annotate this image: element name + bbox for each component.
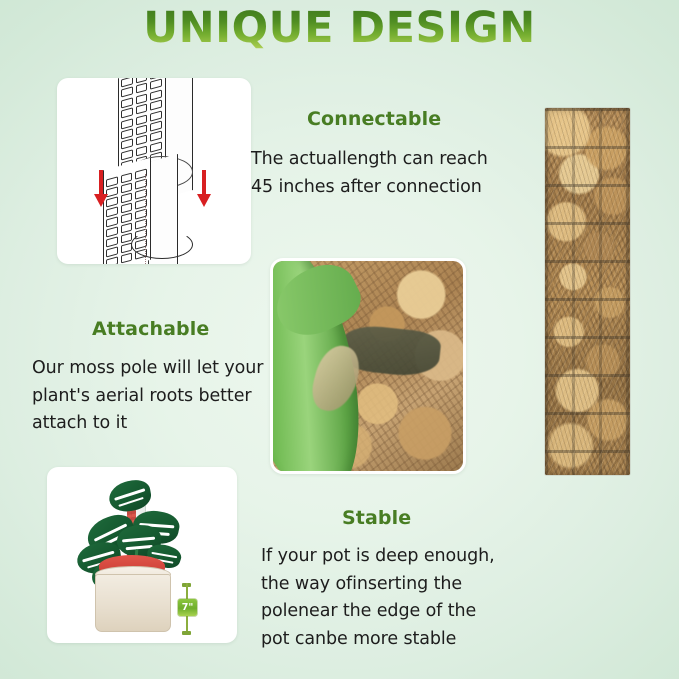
feature-heading-attachable: Attachable — [92, 318, 209, 340]
feature-body-line: attach to it — [32, 410, 263, 438]
feature-body-line: pot canbe more stable — [261, 626, 495, 654]
sphagnum-moss-pole-product-photo — [545, 108, 630, 475]
pole-depth-measurement: 7" — [174, 583, 200, 635]
diagram-dotted-guide-lower — [145, 174, 146, 264]
feature-body-line: The actuallength can reach — [251, 146, 488, 174]
lower-tube-bottom-ellipse — [131, 230, 193, 259]
feature-heading-stable: Stable — [342, 507, 411, 529]
feature-body-attachable: Our moss pole will let your plant's aeri… — [32, 355, 263, 438]
feature-body-line: polenear the edge of the — [261, 598, 495, 626]
monstera-in-pot-with-pole-illustration: 7" — [47, 467, 237, 643]
feature-body-line: If your pot is deep enough, — [261, 543, 495, 571]
feature-heading-connectable: Connectable — [307, 108, 441, 130]
down-arrow-right-icon — [197, 170, 211, 207]
title-container: UNIQUE DESIGN — [0, 6, 679, 51]
pot-body — [95, 574, 171, 632]
feature-body-line: 45 inches after connection — [251, 174, 488, 202]
product-infographic: UNIQUE DESIGN — [0, 0, 679, 679]
moss-pole-connection-diagram — [57, 78, 251, 264]
aerial-root-attaching-to-moss-photo — [273, 261, 463, 471]
feature-body-line: the way ofinserting the — [261, 571, 495, 599]
photo-edge-shading — [545, 108, 630, 475]
feature-body-connectable: The actuallength can reach 45 inches aft… — [251, 146, 488, 201]
connection-diagram-card — [57, 78, 251, 264]
measure-cap-bottom — [182, 631, 191, 635]
measurement-badge: 7" — [178, 599, 197, 616]
monstera-leaf — [107, 478, 154, 515]
potted-plant-illustration-card: 7" — [47, 467, 237, 643]
down-arrow-left-icon — [94, 170, 108, 207]
feature-body-stable: If your pot is deep enough, the way ofin… — [261, 543, 495, 654]
aerial-root-photo-card — [270, 258, 466, 474]
page-title: UNIQUE DESIGN — [143, 6, 536, 51]
feature-body-line: Our moss pole will let your — [32, 355, 263, 383]
feature-body-line: plant's aerial roots better — [32, 383, 263, 411]
